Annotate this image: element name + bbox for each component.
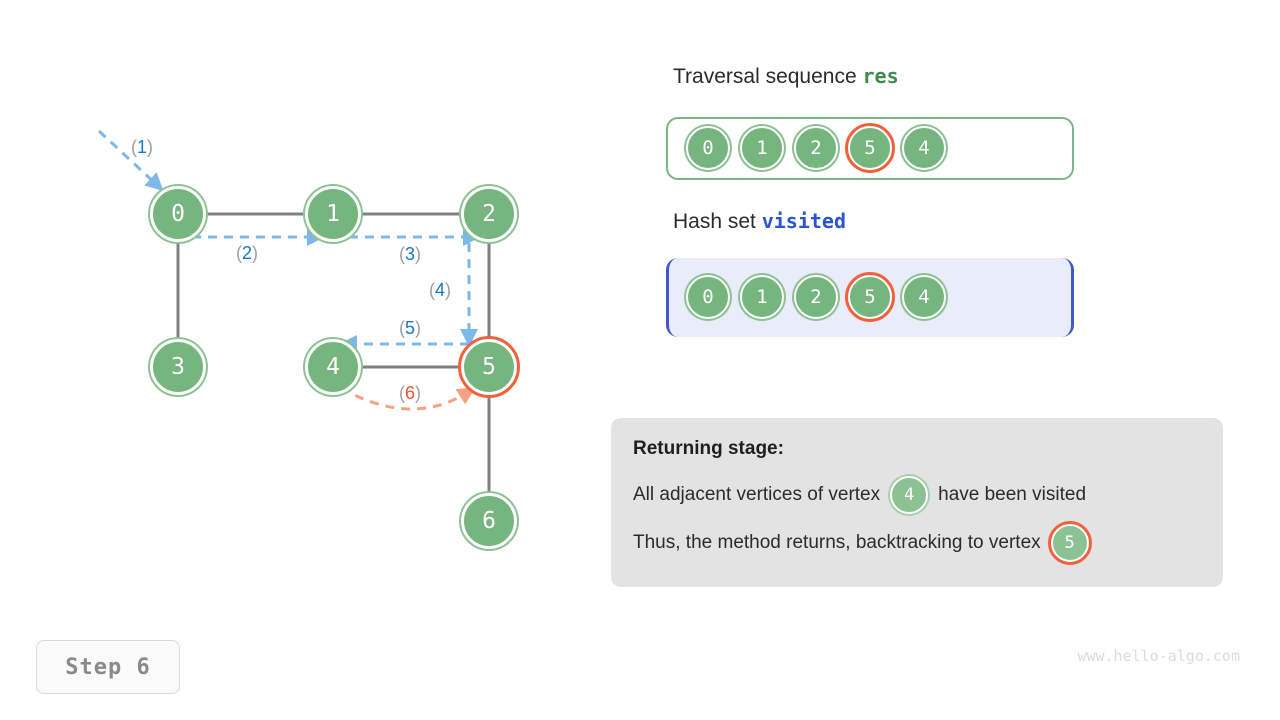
- info-line-2: Thus, the method returns, backtracking t…: [633, 524, 1201, 562]
- step-label-5-number: 5: [405, 318, 415, 338]
- graph-node-4[interactable]: 4: [305, 339, 361, 395]
- returning-stage-info-box: Returning stage: All adjacent vertices o…: [611, 418, 1223, 587]
- visited-cell-0-label: 0: [702, 286, 713, 308]
- visited-cell-4-label: 4: [918, 286, 929, 308]
- step-label-4: (4): [429, 280, 451, 301]
- step-indicator-label: Step 6: [65, 655, 150, 680]
- graph-node-1-label: 1: [326, 201, 340, 227]
- graph-node-3-label: 3: [171, 354, 185, 380]
- step-label-5: (5): [399, 318, 421, 339]
- step-label-4-close: ): [445, 280, 451, 300]
- visited-caption-text: Hash set: [673, 210, 762, 233]
- graph-node-0-label: 0: [171, 201, 185, 227]
- res-cell-4-label: 4: [918, 137, 929, 159]
- res-cell-3[interactable]: 5: [848, 126, 892, 170]
- res-cell-2-label: 2: [810, 137, 821, 159]
- traversal-arrows: [99, 131, 472, 344]
- info-badge-vertex-4-label: 4: [904, 485, 914, 505]
- info-line-1-post: have been visited: [938, 484, 1086, 506]
- visited-cells: 0 1 2 5 4: [686, 275, 956, 319]
- step-label-4-number: 4: [435, 280, 445, 300]
- graph-node-4-label: 4: [326, 354, 340, 380]
- visited-caption-code: visited: [762, 209, 846, 233]
- info-line-1-pre: All adjacent vertices of vertex: [633, 484, 880, 506]
- visited-cell-0[interactable]: 0: [686, 275, 730, 319]
- res-caption-code: res: [862, 64, 898, 88]
- graph-node-5[interactable]: 5: [461, 339, 517, 395]
- visited-cell-4[interactable]: 4: [902, 275, 946, 319]
- graph-node-3[interactable]: 3: [150, 339, 206, 395]
- step-label-6-number: 6: [405, 383, 415, 403]
- info-line-1: All adjacent vertices of vertex 4 have b…: [633, 476, 1201, 514]
- step-label-2-close: ): [252, 243, 258, 263]
- res-cell-1[interactable]: 1: [740, 126, 784, 170]
- step-label-3-number: 3: [405, 244, 415, 264]
- visited-cell-3[interactable]: 5: [848, 275, 892, 319]
- graph-node-6[interactable]: 6: [461, 493, 517, 549]
- res-caption: Traversal sequence res: [673, 64, 899, 89]
- step-label-3-close: ): [415, 244, 421, 264]
- visited-caption: Hash set visited: [673, 209, 846, 234]
- graph-node-1[interactable]: 1: [305, 186, 361, 242]
- visited-cell-1[interactable]: 1: [740, 275, 784, 319]
- step-label-6: (6): [399, 383, 421, 404]
- visited-cell-2-label: 2: [810, 286, 821, 308]
- graph-panel: 0 1 2 3 4 5 6 (1) (2) (3) (4) (5) (6): [0, 0, 620, 720]
- step-label-3: (3): [399, 244, 421, 265]
- res-cells: 0 1 2 5 4: [686, 126, 956, 170]
- right-panel: Traversal sequence res 0 1 2 5 4 Hash se…: [620, 0, 1280, 720]
- info-badge-vertex-4: 4: [890, 476, 928, 514]
- res-cell-1-label: 1: [756, 137, 767, 159]
- step-label-1: (1): [131, 137, 153, 158]
- step-label-2: (2): [236, 243, 258, 264]
- step-label-5-close: ): [415, 318, 421, 338]
- info-title: Returning stage:: [633, 438, 1201, 460]
- visited-cell-2[interactable]: 2: [794, 275, 838, 319]
- info-badge-vertex-5-label: 5: [1065, 533, 1075, 553]
- visited-cell-3-label: 5: [864, 286, 875, 308]
- graph-node-2[interactable]: 2: [461, 186, 517, 242]
- res-caption-text: Traversal sequence: [673, 65, 862, 88]
- step-label-2-number: 2: [242, 243, 252, 263]
- res-cell-0[interactable]: 0: [686, 126, 730, 170]
- graph-node-2-label: 2: [482, 201, 496, 227]
- visited-cell-1-label: 1: [756, 286, 767, 308]
- res-cell-0-label: 0: [702, 137, 713, 159]
- res-cell-4[interactable]: 4: [902, 126, 946, 170]
- info-line-2-pre: Thus, the method returns, backtracking t…: [633, 532, 1041, 554]
- info-badge-vertex-5: 5: [1051, 524, 1089, 562]
- watermark: www.hello-algo.com: [1077, 647, 1240, 665]
- res-cell-3-label: 5: [864, 137, 875, 159]
- graph-node-0[interactable]: 0: [150, 186, 206, 242]
- step-indicator: Step 6: [36, 640, 180, 694]
- step-label-6-close: ): [415, 383, 421, 403]
- step-label-1-close: ): [147, 137, 153, 157]
- step-label-1-number: 1: [137, 137, 147, 157]
- res-cell-2[interactable]: 2: [794, 126, 838, 170]
- graph-node-6-label: 6: [482, 508, 496, 534]
- graph-node-5-label: 5: [482, 354, 496, 380]
